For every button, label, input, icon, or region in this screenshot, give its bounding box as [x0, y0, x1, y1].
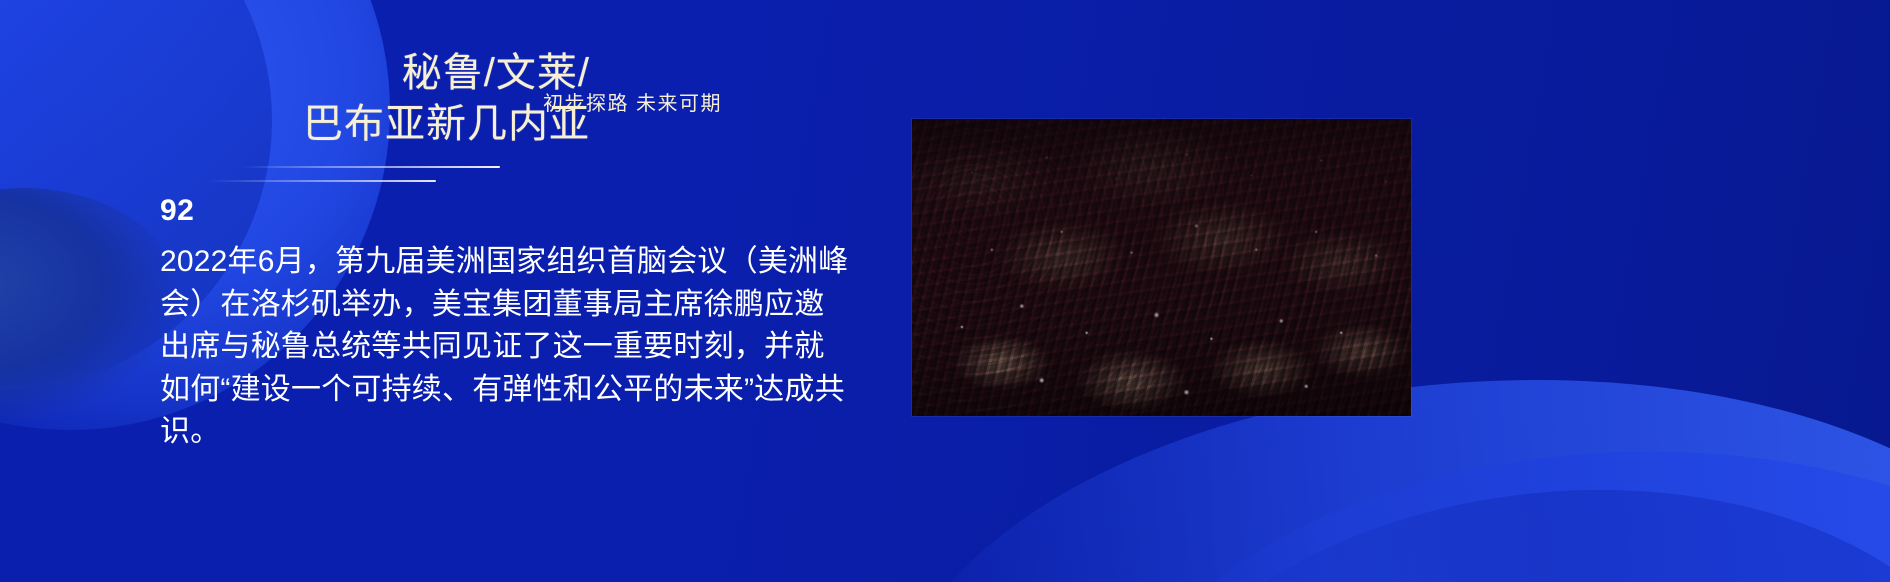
page-number: 92: [160, 196, 194, 226]
slide-root: 秘鲁/文莱/ 巴布亚新几内亚 初步探路 未来可期 92 2022年6月，第九届美…: [0, 0, 1890, 582]
title-underline-upper: [242, 166, 500, 168]
title-block: 秘鲁/文莱/ 巴布亚新几内亚: [160, 48, 590, 150]
title-underline-group: [160, 160, 580, 190]
body-paragraph: 2022年6月，第九届美洲国家组织首脑会议（美洲峰会）在洛杉矶举办，美宝集团董事…: [160, 241, 850, 454]
title-underline-lower: [208, 180, 436, 182]
slide-subtitle: 初步探路 未来可期: [543, 87, 722, 116]
conference-audience-photo: [912, 119, 1411, 416]
photo-depth-gradient: [912, 119, 1411, 416]
slide-content: 秘鲁/文莱/ 巴布亚新几内亚 初步探路 未来可期 92 2022年6月，第九届美…: [0, 0, 1890, 582]
slide-title: 秘鲁/文莱/ 巴布亚新几内亚: [160, 48, 590, 150]
